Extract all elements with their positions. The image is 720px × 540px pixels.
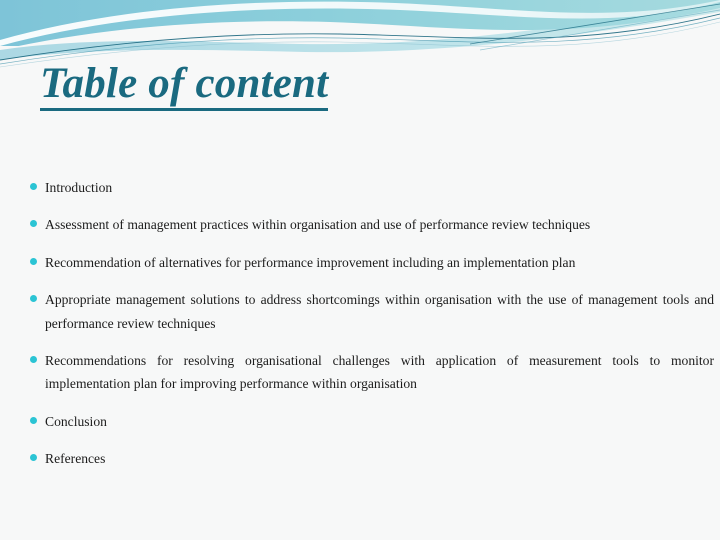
list-item[interactable]: References [28,447,714,470]
header-stroke-line-4 [470,4,720,44]
list-item[interactable]: Assessment of management practices withi… [28,213,714,236]
header-stroke-line-5 [480,10,720,50]
list-item[interactable]: Recommendations for resolving organisati… [28,349,714,396]
list-item-label: Recommendations for resolving organisati… [45,349,714,396]
list-item-label: Assessment of management practices withi… [45,213,714,236]
list-item-label: References [45,447,714,470]
list-item-label: Conclusion [45,410,714,433]
list-item-label: Recommendation of alternatives for perfo… [45,251,714,274]
title-block: Table of content [40,62,680,111]
table-of-contents-list: Introduction Assessment of management pr… [28,176,714,470]
list-item[interactable]: Introduction [28,176,714,199]
bullet-dot-icon [30,454,37,461]
list-item[interactable]: Recommendation of alternatives for perfo… [28,251,714,274]
header-teal-ribbon [0,0,720,60]
slide-canvas: Table of content Introduction Assessment… [0,0,720,540]
bullet-dot-icon [30,295,37,302]
header-gradient-band [0,0,720,46]
header-stroke-line-2 [0,18,720,64]
page-title: Table of content [40,62,328,105]
bullet-dot-icon [30,220,37,227]
list-item-label: Introduction [45,176,714,199]
bullet-dot-icon [30,258,37,265]
list-item-label: Appropriate management solutions to addr… [45,288,714,335]
list-item[interactable]: Conclusion [28,410,714,433]
bullet-dot-icon [30,183,37,190]
title-underline [40,108,328,111]
header-stroke-line-1 [0,14,720,60]
bullet-dot-icon [30,356,37,363]
bullet-dot-icon [30,417,37,424]
list-item[interactable]: Appropriate management solutions to addr… [28,288,714,335]
header-white-swoosh-upper [0,0,720,46]
